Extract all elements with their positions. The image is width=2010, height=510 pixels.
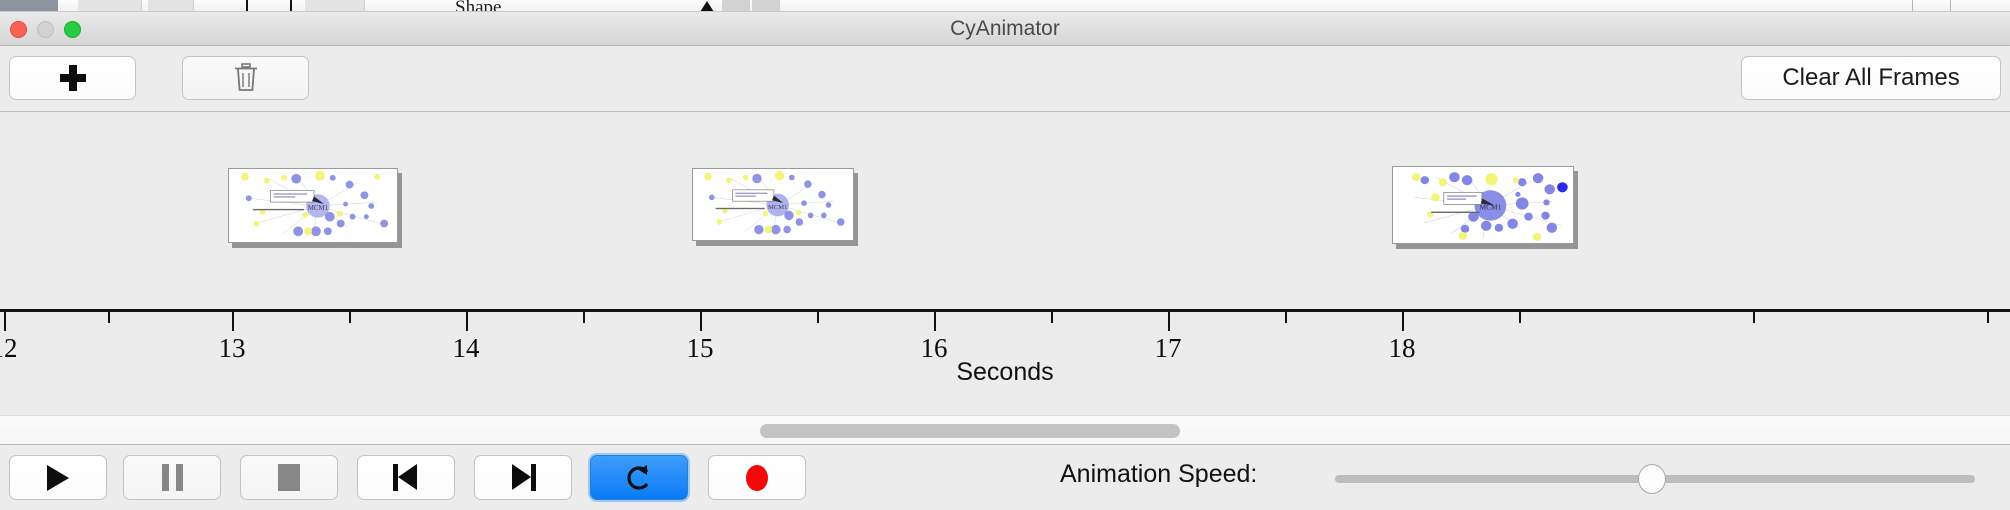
animation-speed-slider-thumb[interactable] — [1638, 464, 1666, 494]
background-tick-3 — [1912, 0, 1913, 12]
tick-minor-8 — [1753, 312, 1755, 323]
trash-icon — [233, 63, 259, 93]
tick-minor-2 — [349, 312, 351, 323]
stop-button[interactable] — [240, 455, 338, 500]
cyanimator-window: Shape CyAnimator Clear All Fra — [0, 0, 2010, 510]
pause-button[interactable] — [123, 455, 221, 500]
tick-minor-3 — [583, 312, 585, 323]
tick-major-17 — [1168, 312, 1170, 331]
tick-minor-5 — [1051, 312, 1053, 323]
toolbar: Clear All Frames — [0, 46, 2010, 112]
background-chip-2 — [148, 0, 194, 12]
animation-speed-slider[interactable] — [1335, 475, 1975, 483]
frame-thumbnail-1[interactable]: MCM1 — [228, 168, 398, 243]
background-chip-4 — [722, 0, 750, 12]
timeline-ruler — [0, 309, 2010, 312]
tick-minor-6 — [1285, 312, 1287, 323]
pause-icon — [162, 464, 183, 491]
prev-frame-button[interactable] — [357, 455, 455, 500]
transport-bar: Animation Speed: — [0, 446, 2010, 510]
tick-major-13 — [232, 312, 234, 331]
title-bar: CyAnimator — [0, 12, 2010, 46]
close-icon[interactable] — [10, 21, 27, 38]
page-title: CyAnimator — [0, 12, 2010, 46]
background-tick-4 — [1950, 0, 1951, 12]
next-frame-button[interactable] — [474, 455, 572, 500]
svg-text:MCM1: MCM1 — [768, 204, 787, 211]
background-window-label: Shape — [455, 0, 501, 12]
frame-thumbnail-3[interactable]: MCM1 — [1392, 166, 1574, 244]
svg-text:MCM1: MCM1 — [308, 205, 329, 212]
tick-label-14: 14 — [453, 333, 480, 364]
tick-minor-7 — [1519, 312, 1521, 323]
skip-back-icon — [393, 464, 419, 491]
traffic-light-group — [10, 21, 81, 38]
loop-icon — [625, 463, 653, 493]
skip-forward-icon — [510, 464, 536, 491]
play-icon — [47, 465, 69, 491]
background-window-strip: Shape — [0, 0, 2010, 12]
frame-thumbnail-2[interactable]: MCM1 — [692, 168, 854, 241]
background-cursor-icon — [700, 1, 714, 12]
timeline-scrollbar[interactable] — [0, 415, 2010, 445]
background-chip-1 — [78, 0, 142, 12]
plus-icon — [60, 65, 86, 91]
tick-major-18 — [1402, 312, 1404, 331]
stop-icon — [278, 464, 300, 491]
animation-speed-label: Animation Speed: — [1060, 460, 1257, 489]
tick-major-16 — [934, 312, 936, 331]
clear-all-frames-button[interactable]: Clear All Frames — [1741, 56, 2001, 100]
scrollbar-thumb[interactable] — [760, 424, 1180, 438]
background-tick-1 — [246, 0, 248, 12]
background-chip-3 — [305, 0, 365, 12]
minimize-icon[interactable] — [37, 21, 54, 38]
tick-label-12: 12 — [0, 333, 18, 364]
tick-label-17: 17 — [1155, 333, 1182, 364]
tick-label-18: 18 — [1389, 333, 1416, 364]
tick-major-15 — [700, 312, 702, 331]
tick-minor-4 — [817, 312, 819, 323]
zoom-icon[interactable] — [64, 21, 81, 38]
loop-button[interactable] — [590, 455, 688, 500]
add-frame-button[interactable] — [9, 56, 136, 100]
tick-major-12 — [4, 312, 6, 331]
delete-frame-button[interactable] — [182, 56, 309, 100]
tick-minor-1 — [108, 312, 110, 323]
background-window-titlebar-chip — [0, 0, 58, 11]
background-tick-2 — [290, 0, 292, 12]
play-button[interactable] — [9, 455, 107, 500]
tick-minor-9 — [1987, 312, 1989, 323]
axis-title-seconds: Seconds — [956, 358, 1053, 387]
record-icon — [746, 465, 768, 491]
background-chip-5 — [752, 0, 780, 12]
tick-major-14 — [466, 312, 468, 331]
record-button[interactable] — [708, 455, 806, 500]
tick-label-13: 13 — [219, 333, 246, 364]
tick-label-16: 16 — [921, 333, 948, 364]
timeline-panel[interactable]: MCM1 — [0, 113, 2010, 415]
tick-label-15: 15 — [687, 333, 714, 364]
